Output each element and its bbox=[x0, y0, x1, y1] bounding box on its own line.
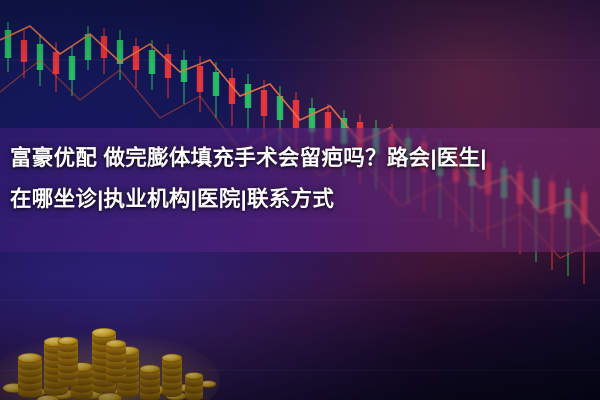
headline-line-2: 在哪坐诊|执业机构|医院|联系方式 bbox=[10, 179, 592, 220]
headline-text: 富豪优配 做完膨体填充手术会留疤吗？路会|医生| 在哪坐诊|执业机构|医院|联系… bbox=[10, 138, 592, 220]
promo-banner-image: 富豪优配 做完膨体填充手术会留疤吗？路会|医生| 在哪坐诊|执业机构|医院|联系… bbox=[0, 0, 600, 400]
coin-pile-svg bbox=[0, 288, 230, 400]
gold-coin-pile bbox=[0, 288, 230, 400]
headline-line-1: 富豪优配 做完膨体填充手术会留疤吗？路会|医生| bbox=[10, 138, 592, 179]
